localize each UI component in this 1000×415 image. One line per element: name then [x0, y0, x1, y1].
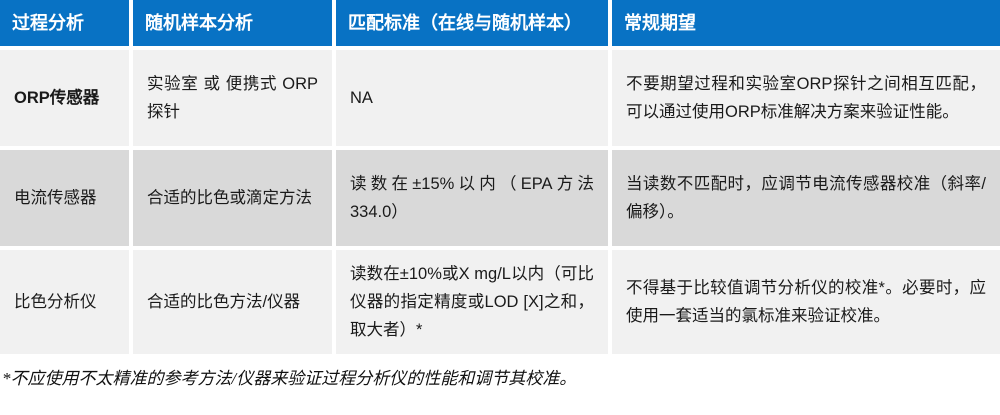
cell-process-orp-sensor: ORP传感器 [0, 50, 133, 150]
comparison-table: 过程分析 随机样本分析 匹配标准（在线与随机样本） 常规期望 ORP传感器 实验… [0, 0, 1000, 358]
cell-process-amperometric-sensor: 电流传感器 [0, 150, 133, 250]
column-header-process-analysis: 过程分析 [0, 0, 133, 50]
cell-expectation-colorimetric-analyzer: 不得基于比较值调节分析仪的校准*。必要时，应使用一套适当的氯标准来验证校准。 [612, 250, 1000, 358]
table-footnote: *不应使用不太精准的参考方法/仪器来验证过程分析仪的性能和调节其校准。 [0, 358, 1000, 391]
table-header-row: 过程分析 随机样本分析 匹配标准（在线与随机样本） 常规期望 [0, 0, 1000, 50]
column-header-match-criteria: 匹配标准（在线与随机样本） [336, 0, 612, 50]
cell-grab-sample-colorimetric-analyzer: 合适的比色方法/仪器 [133, 250, 336, 358]
cell-process-colorimetric-analyzer: 比色分析仪 [0, 250, 133, 358]
cell-expectation-amperometric-sensor: 当读数不匹配时，应调节电流传感器校准（斜率/偏移）。 [612, 150, 1000, 250]
table-header: 过程分析 随机样本分析 匹配标准（在线与随机样本） 常规期望 [0, 0, 1000, 50]
cell-grab-sample-orp-sensor: 实验室 或 便携式 ORP探针 [133, 50, 336, 150]
cell-match-criteria-orp-sensor: NA [336, 50, 612, 150]
table-body: ORP传感器 实验室 或 便携式 ORP探针 NA 不要期望过程和实验室ORP探… [0, 50, 1000, 358]
cell-grab-sample-amperometric-sensor: 合适的比色或滴定方法 [133, 150, 336, 250]
column-header-normal-expectation: 常规期望 [612, 0, 1000, 50]
table-row: 电流传感器 合适的比色或滴定方法 读数在±15%以内（EPA方法334.0） 当… [0, 150, 1000, 250]
page-container: 过程分析 随机样本分析 匹配标准（在线与随机样本） 常规期望 ORP传感器 实验… [0, 0, 1000, 415]
table-row: 比色分析仪 合适的比色方法/仪器 读数在±10%或X mg/L以内（可比仪器的指… [0, 250, 1000, 358]
column-header-grab-sample-analysis: 随机样本分析 [133, 0, 336, 50]
cell-expectation-orp-sensor: 不要期望过程和实验室ORP探针之间相互匹配，可以通过使用ORP标准解决方案来验证… [612, 50, 1000, 150]
cell-match-criteria-colorimetric-analyzer: 读数在±10%或X mg/L以内（可比仪器的指定精度或LOD [X]之和，取大者… [336, 250, 612, 358]
table-row: ORP传感器 实验室 或 便携式 ORP探针 NA 不要期望过程和实验室ORP探… [0, 50, 1000, 150]
cell-match-criteria-amperometric-sensor: 读数在±15%以内（EPA方法334.0） [336, 150, 612, 250]
